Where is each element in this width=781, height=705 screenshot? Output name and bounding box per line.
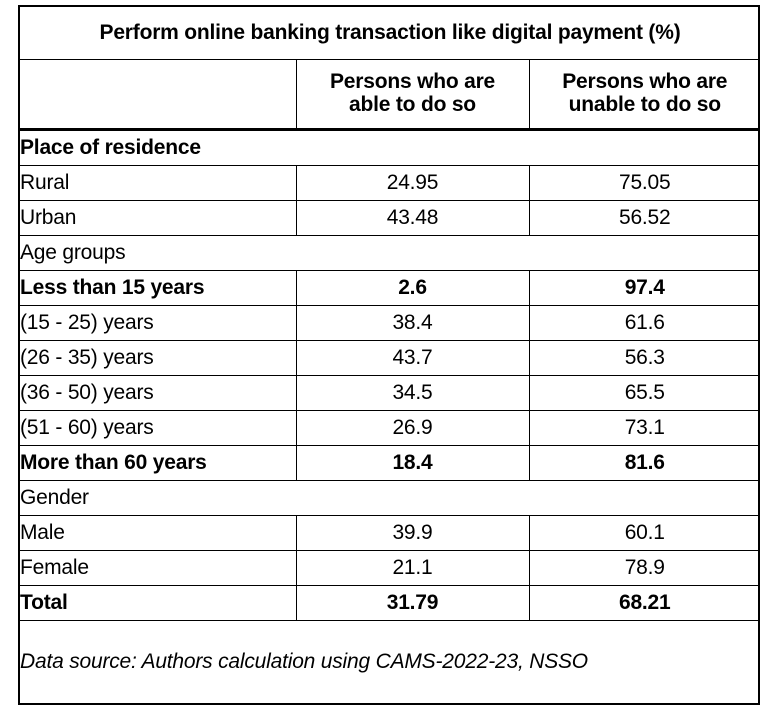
row-label: Female bbox=[20, 551, 296, 586]
cell-value-unable: 60.1 bbox=[529, 516, 760, 551]
table-row: More than 60 years18.481.6 bbox=[20, 446, 760, 481]
column-header-able: Persons who are able to do so bbox=[296, 60, 529, 130]
cell-value-able: 34.5 bbox=[296, 376, 529, 411]
table-group-row: Gender bbox=[20, 481, 760, 516]
column-header-unable-line1: Persons who are bbox=[530, 71, 761, 94]
table-title: Perform online banking transaction like … bbox=[20, 7, 760, 60]
row-label: Male bbox=[20, 516, 296, 551]
cell-value-able: 39.9 bbox=[296, 516, 529, 551]
cell-value-able: 43.48 bbox=[296, 201, 529, 236]
cell-value-able: 31.79 bbox=[296, 586, 529, 621]
column-header-able-line2: able to do so bbox=[297, 94, 529, 117]
table-row: (36 - 50) years34.565.5 bbox=[20, 376, 760, 411]
table-source-row: Data source: Authors calculation using C… bbox=[20, 621, 760, 704]
page-root: Perform online banking transaction like … bbox=[0, 0, 781, 695]
table-group-row: Place of residence bbox=[20, 130, 760, 166]
row-label: Total bbox=[20, 586, 296, 621]
table-row: (51 - 60) years26.973.1 bbox=[20, 411, 760, 446]
source-note: Data source: Authors calculation using C… bbox=[20, 621, 760, 704]
table-header-row: Persons who are able to do so Persons wh… bbox=[20, 60, 760, 130]
row-label: (51 - 60) years bbox=[20, 411, 296, 446]
group-label: Gender bbox=[20, 481, 760, 516]
cell-value-able: 2.6 bbox=[296, 271, 529, 306]
cell-value-unable: 68.21 bbox=[529, 586, 760, 621]
column-header-able-line1: Persons who are bbox=[297, 71, 529, 94]
cell-value-able: 38.4 bbox=[296, 306, 529, 341]
row-label: More than 60 years bbox=[20, 446, 296, 481]
table-row: Male39.960.1 bbox=[20, 516, 760, 551]
cell-value-unable: 78.9 bbox=[529, 551, 760, 586]
cell-value-unable: 56.3 bbox=[529, 341, 760, 376]
cell-value-able: 24.95 bbox=[296, 166, 529, 201]
cell-value-able: 26.9 bbox=[296, 411, 529, 446]
column-header-unable-line2: unable to do so bbox=[530, 94, 761, 117]
row-label: (26 - 35) years bbox=[20, 341, 296, 376]
cell-value-unable: 56.52 bbox=[529, 201, 760, 236]
cell-value-able: 18.4 bbox=[296, 446, 529, 481]
row-label: Rural bbox=[20, 166, 296, 201]
table-row: Urban43.4856.52 bbox=[20, 201, 760, 236]
cell-value-unable: 81.6 bbox=[529, 446, 760, 481]
column-header-unable: Persons who are unable to do so bbox=[529, 60, 760, 130]
table-row: (15 - 25) years38.461.6 bbox=[20, 306, 760, 341]
column-header-blank bbox=[20, 60, 296, 130]
row-label: Less than 15 years bbox=[20, 271, 296, 306]
group-label: Age groups bbox=[20, 236, 760, 271]
cell-value-unable: 75.05 bbox=[529, 166, 760, 201]
table-title-row: Perform online banking transaction like … bbox=[20, 7, 760, 60]
table-group-row: Age groups bbox=[20, 236, 760, 271]
table-body: Perform online banking transaction like … bbox=[20, 7, 760, 703]
statistics-table: Perform online banking transaction like … bbox=[20, 7, 760, 703]
cell-value-able: 21.1 bbox=[296, 551, 529, 586]
row-label: Urban bbox=[20, 201, 296, 236]
cell-value-unable: 65.5 bbox=[529, 376, 760, 411]
cell-value-unable: 73.1 bbox=[529, 411, 760, 446]
row-label: (15 - 25) years bbox=[20, 306, 296, 341]
table-row: (26 - 35) years43.756.3 bbox=[20, 341, 760, 376]
cell-value-unable: 97.4 bbox=[529, 271, 760, 306]
cell-value-able: 43.7 bbox=[296, 341, 529, 376]
group-label: Place of residence bbox=[20, 130, 760, 166]
table-row: Rural24.9575.05 bbox=[20, 166, 760, 201]
table-row: Total31.7968.21 bbox=[20, 586, 760, 621]
table-row: Less than 15 years2.697.4 bbox=[20, 271, 760, 306]
cell-value-unable: 61.6 bbox=[529, 306, 760, 341]
statistics-table-container: Perform online banking transaction like … bbox=[18, 5, 760, 705]
table-row: Female21.178.9 bbox=[20, 551, 760, 586]
row-label: (36 - 50) years bbox=[20, 376, 296, 411]
